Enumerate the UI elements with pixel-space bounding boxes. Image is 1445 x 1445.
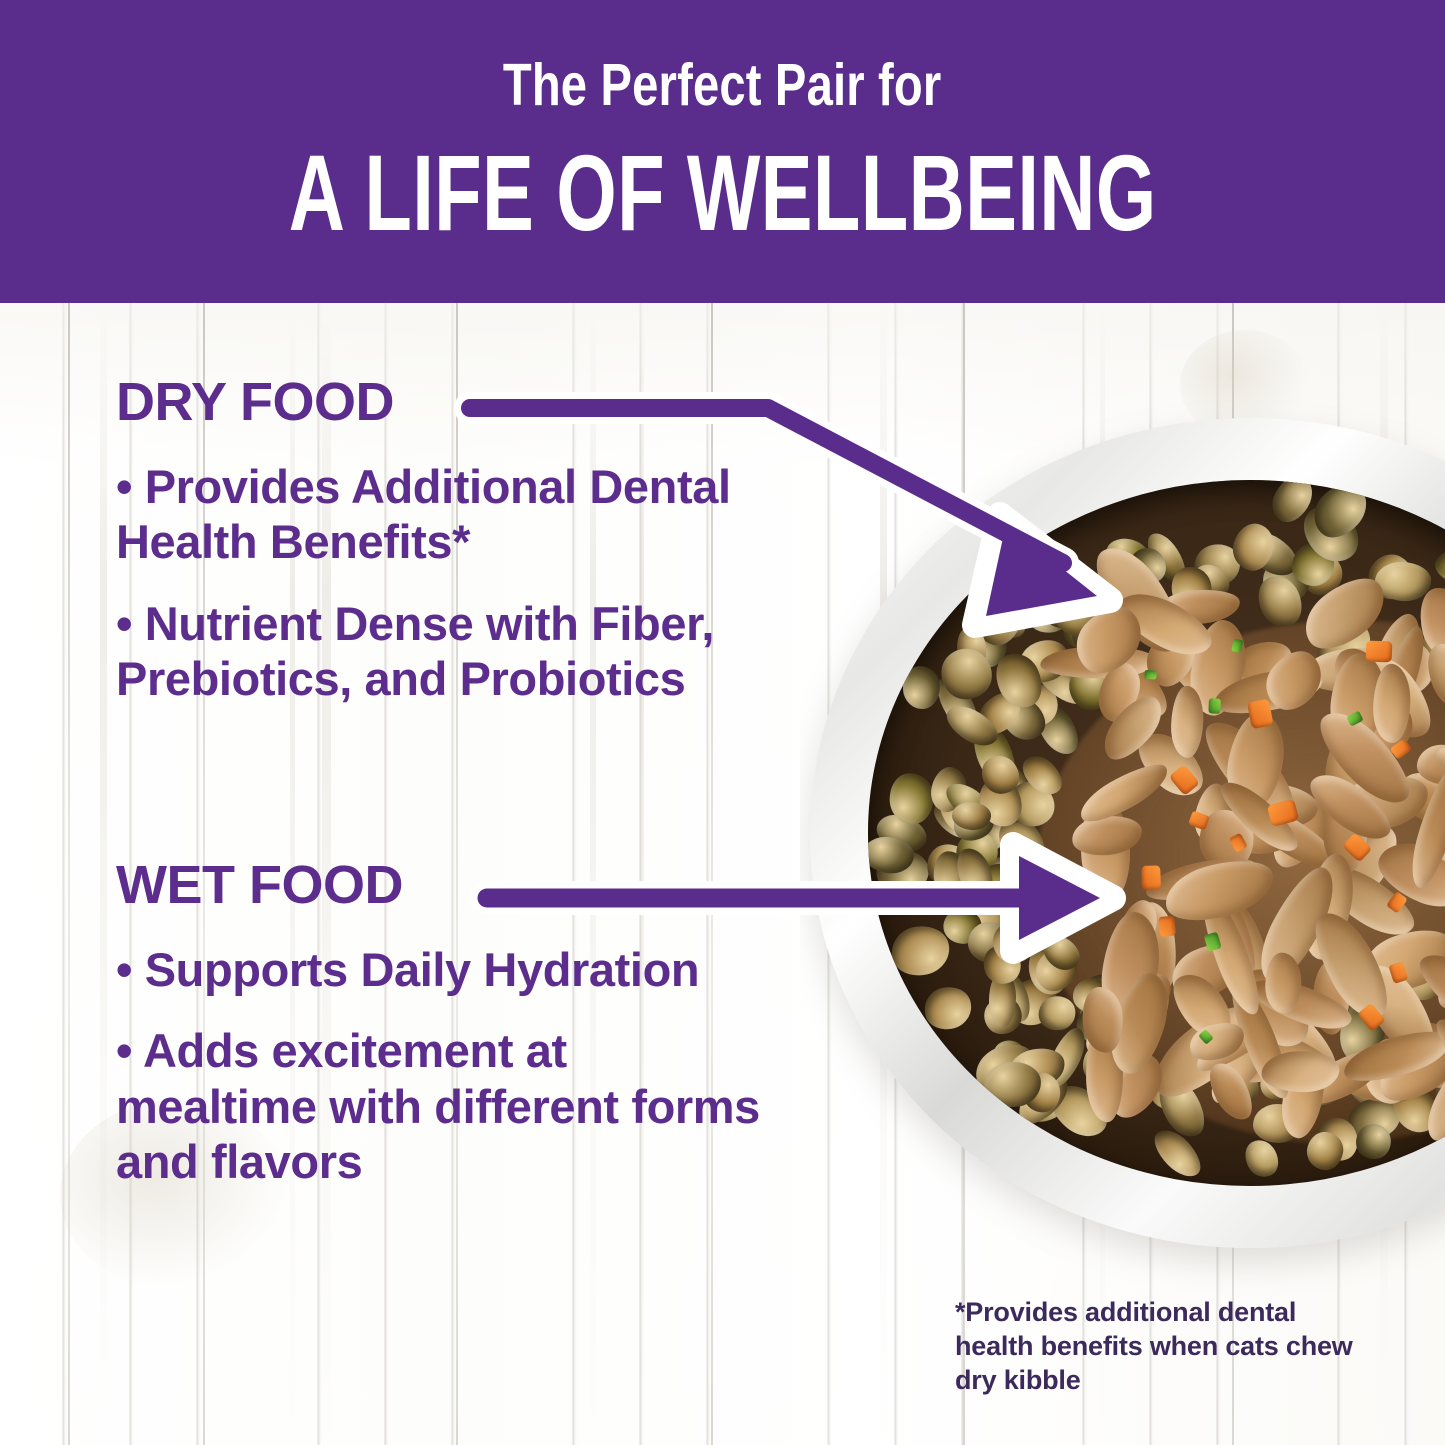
banner-title: A LIFE OF WELLBEING xyxy=(289,139,1157,247)
kibble-piece xyxy=(901,665,941,711)
header-banner: The Perfect Pair for A LIFE OF WELLBEING xyxy=(0,0,1445,303)
kibble-piece xyxy=(1432,546,1445,590)
carrot-piece xyxy=(1158,915,1176,937)
dry-food-heading: DRY FOOD xyxy=(116,375,776,429)
list-item: • Adds excitement at mealtime with diffe… xyxy=(116,1023,776,1189)
wet-food-chunk xyxy=(1265,953,1301,1014)
promo-infographic: The Perfect Pair for A LIFE OF WELLBEING… xyxy=(0,0,1445,1445)
wet-food-heading: WET FOOD xyxy=(116,858,776,912)
banner-subtitle: The Perfect Pair for xyxy=(503,56,942,115)
section-dry-food: DRY FOOD • Provides Additional Dental He… xyxy=(116,375,776,733)
list-item: • Supports Daily Hydration xyxy=(116,942,776,997)
pea-piece xyxy=(1208,698,1221,714)
bowl-interior xyxy=(868,480,1445,1186)
dry-food-bullets: • Provides Additional Dental Health Bene… xyxy=(116,459,776,707)
pea-piece xyxy=(1145,669,1157,679)
list-item: • Provides Additional Dental Health Bene… xyxy=(116,459,776,570)
bowl-rim xyxy=(810,418,1445,1248)
carrot-piece xyxy=(1366,641,1393,663)
cat-food-bowl-photo xyxy=(800,400,1445,1300)
list-item: • Nutrient Dense with Fiber, Prebiotics,… xyxy=(116,596,776,707)
wet-food-bullets: • Supports Daily Hydration • Adds excite… xyxy=(116,942,776,1190)
footnote-text: *Provides additional dental health benef… xyxy=(955,1296,1375,1397)
copy-column: DRY FOOD • Provides Additional Dental He… xyxy=(0,303,780,1445)
carrot-piece xyxy=(1141,866,1161,891)
section-wet-food: WET FOOD • Supports Daily Hydration • Ad… xyxy=(116,858,776,1216)
kibble-piece xyxy=(920,982,977,1035)
